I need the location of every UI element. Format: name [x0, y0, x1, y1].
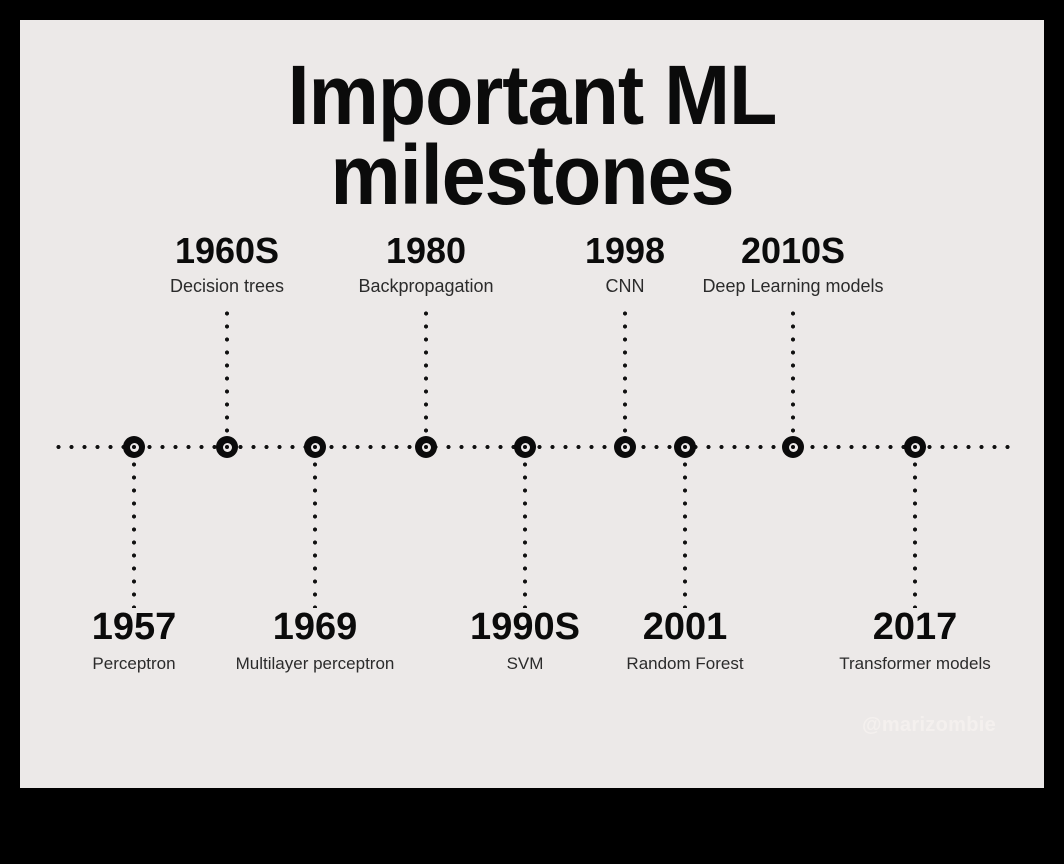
milestone-2001: 2001Random Forest	[626, 608, 743, 674]
milestone-2017: 2017Transformer models	[839, 608, 990, 674]
infographic-canvas: Important ML milestones 1957Perceptron19…	[20, 20, 1044, 788]
milestone-connector	[790, 307, 796, 436]
milestone-connector	[423, 307, 429, 436]
title-line-2: milestones	[51, 136, 1014, 216]
milestone-label: CNN	[585, 275, 665, 298]
milestone-label: Perceptron	[92, 653, 177, 674]
timeline-node[interactable]	[415, 436, 437, 458]
milestone-1980: 1980Backpropagation	[358, 233, 493, 298]
milestone-label: Random Forest	[626, 653, 743, 674]
milestone-connector	[224, 307, 230, 436]
milestone-year: 1957	[92, 608, 177, 646]
milestone-connector	[912, 458, 918, 608]
milestone-label: SVM	[470, 653, 580, 674]
milestone-year: 1980	[358, 233, 493, 269]
milestone-year: 1969	[236, 608, 395, 646]
timeline-node[interactable]	[614, 436, 636, 458]
milestone-label: Deep Learning models	[702, 275, 883, 298]
milestone-connector	[312, 458, 318, 608]
milestone-year: 2010S	[702, 233, 883, 269]
timeline-node[interactable]	[304, 436, 326, 458]
milestone-label: Multilayer perceptron	[236, 653, 395, 674]
milestone-label: Backpropagation	[358, 275, 493, 298]
timeline-node[interactable]	[904, 436, 926, 458]
milestone-1998: 1998CNN	[585, 233, 665, 298]
milestone-connector	[131, 458, 137, 608]
milestone-label: Decision trees	[170, 275, 284, 298]
milestone-year: 1998	[585, 233, 665, 269]
milestone-1960s: 1960SDecision trees	[170, 233, 284, 298]
milestone-connector	[522, 458, 528, 608]
timeline-node[interactable]	[123, 436, 145, 458]
milestone-2010s: 2010SDeep Learning models	[702, 233, 883, 298]
milestone-year: 2001	[626, 608, 743, 646]
page-title: Important ML milestones	[51, 56, 1014, 216]
milestone-year: 2017	[839, 608, 990, 646]
milestone-year: 1960S	[170, 233, 284, 269]
watermark: @marizombie	[862, 714, 996, 737]
milestone-1990s: 1990SSVM	[470, 608, 580, 674]
timeline-node[interactable]	[514, 436, 536, 458]
timeline-node[interactable]	[216, 436, 238, 458]
title-line-1: Important ML	[51, 56, 1014, 136]
milestone-1957: 1957Perceptron	[92, 608, 177, 674]
timeline-node[interactable]	[782, 436, 804, 458]
milestone-year: 1990S	[470, 608, 580, 646]
milestone-connector	[682, 458, 688, 608]
milestone-connector	[622, 307, 628, 436]
timeline-node[interactable]	[674, 436, 696, 458]
milestone-label: Transformer models	[839, 653, 990, 674]
milestone-1969: 1969Multilayer perceptron	[236, 608, 395, 674]
